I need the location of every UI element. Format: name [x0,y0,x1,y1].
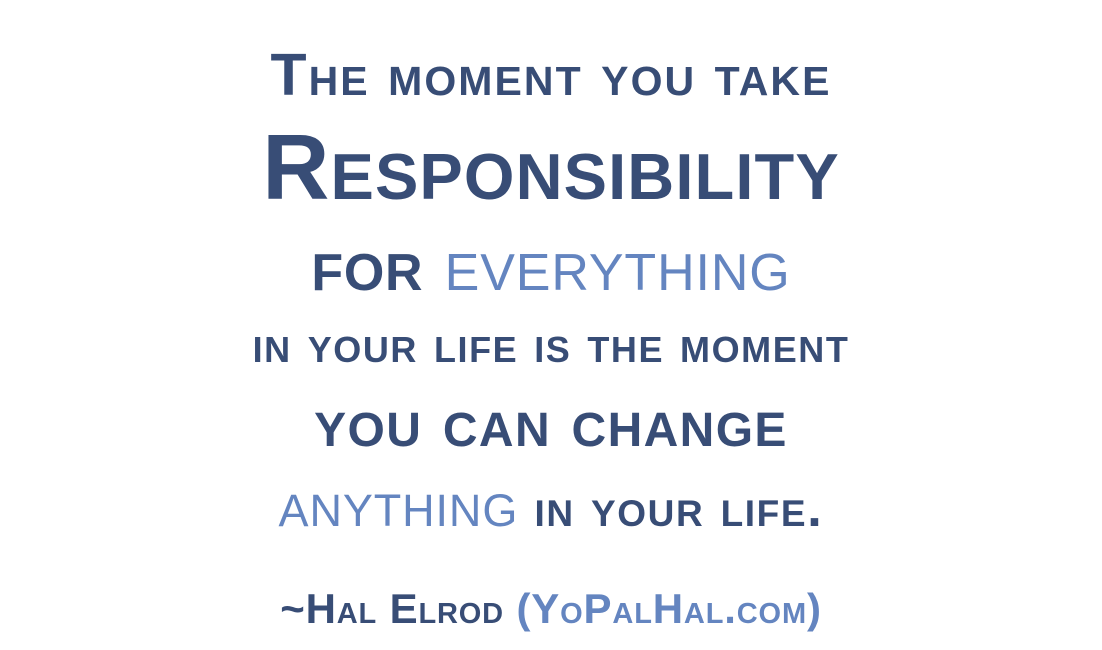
quote-poster: The moment you take Responsibility for e… [0,0,1102,650]
quote-segment: for [311,223,444,306]
attribution-spacer [504,585,517,632]
attribution-author: ~Hal Elrod [280,585,504,632]
quote-line-3: for everything [0,228,1102,302]
quote-line-5: you can change [0,388,1102,457]
quote-segment: The moment you take [270,42,831,108]
quote-segment: in your life is the moment [253,316,850,374]
quote-line-2: Responsibility [0,121,1102,214]
quote-segment: in your life. [518,479,823,538]
quote-segment-responsibility: Responsibility [262,115,840,219]
quote-block: The moment you take Responsibility for e… [0,0,1102,650]
quote-line-4: in your life is the moment [0,319,1102,371]
attribution-line: ~Hal Elrod (YoPalHal.com) [0,588,1102,630]
quote-segment: you can change [314,384,788,461]
quote-segment-anything: anything [279,468,519,540]
quote-segment-everything: everything [445,223,791,306]
quote-line-6: anything in your life. [0,472,1102,536]
attribution-website: (YoPalHal.com) [516,585,821,632]
quote-line-1: The moment you take [0,46,1102,105]
